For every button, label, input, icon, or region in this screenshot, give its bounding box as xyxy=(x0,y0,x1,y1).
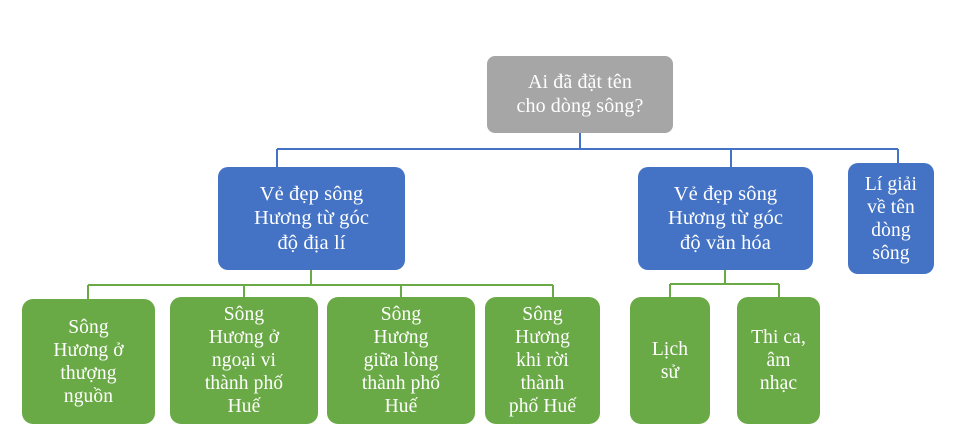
branch-node-culture[interactable]: Vẻ đẹp sông Hương từ góc độ văn hóa xyxy=(638,167,813,270)
leaf-node-leaving-city[interactable]: Sông Hương khi rời thành phố Huế xyxy=(485,297,600,424)
branch-node-name-origin[interactable]: Lí giải về tên dòng sông xyxy=(848,163,934,274)
mindmap-diagram: Ai đã đặt tên cho dòng sông? Vẻ đẹp sông… xyxy=(0,0,962,439)
leaf-node-upstream[interactable]: Sông Hương ở thượng nguồn xyxy=(22,299,155,424)
branch-node-geography[interactable]: Vẻ đẹp sông Hương từ góc độ địa lí xyxy=(218,167,405,270)
leaf-node-poetry-music[interactable]: Thi ca, âm nhạc xyxy=(737,297,820,424)
leaf-node-city-center[interactable]: Sông Hương giữa lòng thành phố Huế xyxy=(327,297,475,424)
leaf-node-history[interactable]: Lịch sử xyxy=(630,297,710,424)
root-node-topic[interactable]: Ai đã đặt tên cho dòng sông? xyxy=(487,56,673,133)
leaf-node-outskirts[interactable]: Sông Hương ở ngoại vi thành phố Huế xyxy=(170,297,318,424)
